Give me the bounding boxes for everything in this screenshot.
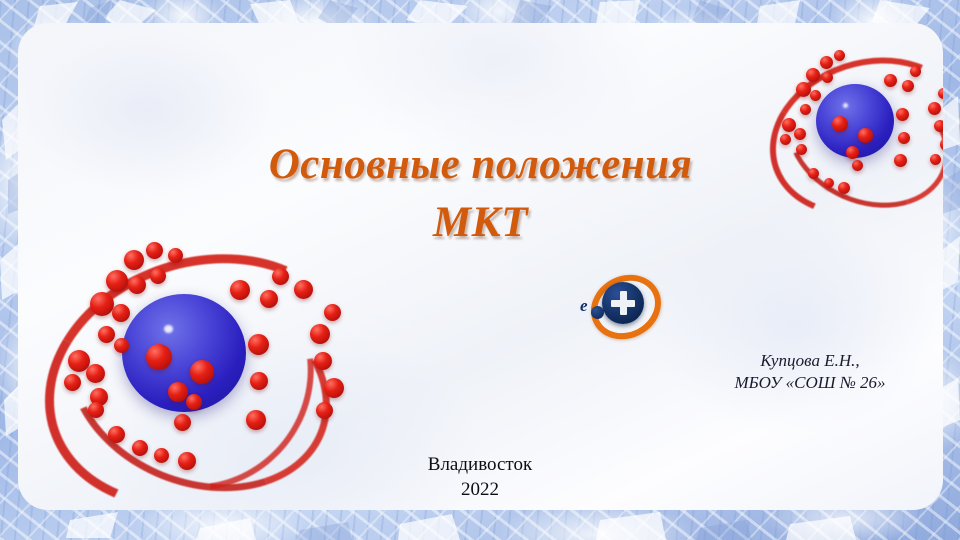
molecule-atom: [934, 120, 943, 132]
molecule-atom: [246, 410, 266, 430]
molecule-atom: [128, 276, 146, 294]
molecule-atom: [806, 68, 820, 82]
molecule-atom: [112, 304, 130, 322]
molecule-atom: [316, 402, 333, 419]
molecule-atom: [896, 108, 909, 121]
molecule-atom: [902, 80, 914, 92]
molecule-atom: [230, 280, 250, 300]
electron-label: e: [580, 296, 588, 316]
molecule-atom: [178, 452, 196, 470]
molecule-atom: [832, 116, 848, 132]
electron-icon: [591, 306, 604, 319]
molecule-swirl-arc: [45, 218, 360, 510]
molecule-atom: [820, 56, 833, 69]
molecule-atom: [810, 90, 821, 101]
molecule-atom: [938, 88, 943, 99]
molecule-atom: [90, 388, 108, 406]
molecule-atom: [324, 304, 341, 321]
year-label: 2022: [330, 477, 630, 502]
title-line-1: Основные положения: [18, 143, 943, 187]
molecule-illustration-bottom-left: [28, 238, 358, 498]
molecule-atom: [248, 334, 269, 355]
molecule-atom: [186, 394, 202, 410]
molecule-atom: [858, 128, 873, 143]
molecule-atom: [146, 344, 172, 370]
molecule-atom: [822, 72, 833, 83]
molecule-atom: [796, 82, 811, 97]
molecule-atom: [168, 382, 188, 402]
molecule-atom: [64, 374, 81, 391]
molecule-atom: [90, 292, 114, 316]
molecule-atom: [106, 270, 128, 292]
molecule-atom: [800, 104, 811, 115]
molecule-atom: [190, 360, 214, 384]
molecule-atom: [928, 102, 941, 115]
molecule-atom: [324, 378, 344, 398]
molecule-atom: [150, 268, 166, 284]
author-name: Купцова Е.Н.,: [690, 350, 930, 372]
molecule-atom: [310, 324, 330, 344]
molecule-atom: [108, 426, 125, 443]
molecule-atom: [272, 268, 289, 285]
author-organization: МБОУ «СОШ № 26»: [690, 372, 930, 394]
molecule-atom: [174, 414, 191, 431]
molecule-atom: [88, 402, 104, 418]
content-panel: e Основные положения МКТ Купцова Е.Н., М…: [18, 23, 943, 510]
molecule-swirl-arc: [36, 239, 363, 510]
molecule-atom: [260, 290, 278, 308]
molecule-atom: [884, 74, 897, 87]
atom-logo-icon: e: [578, 268, 656, 340]
slide-title: Основные положения МКТ: [18, 143, 943, 245]
city-year-block: Владивосток 2022: [330, 452, 630, 503]
title-line-2: МКТ: [18, 201, 943, 245]
molecule-nucleus: [122, 294, 246, 412]
molecule-atom: [294, 280, 313, 299]
city-label: Владивосток: [330, 452, 630, 477]
molecule-atom: [782, 118, 796, 132]
molecule-atom: [314, 352, 332, 370]
molecule-atom: [86, 364, 105, 383]
molecule-atom: [68, 350, 90, 372]
molecule-atom: [250, 372, 268, 390]
molecule-atom: [132, 440, 148, 456]
author-block: Купцова Е.Н., МБОУ «СОШ № 26»: [690, 350, 930, 395]
presentation-slide: e Основные положения МКТ Купцова Е.Н., М…: [0, 0, 960, 540]
molecule-atom: [124, 250, 144, 270]
molecule-atom: [910, 66, 921, 77]
molecule-atom: [98, 326, 115, 343]
molecule-atom: [114, 338, 129, 353]
molecule-atom: [834, 50, 845, 61]
molecule-atom: [794, 128, 806, 140]
molecule-atom: [168, 248, 183, 263]
molecule-atom: [154, 448, 169, 463]
